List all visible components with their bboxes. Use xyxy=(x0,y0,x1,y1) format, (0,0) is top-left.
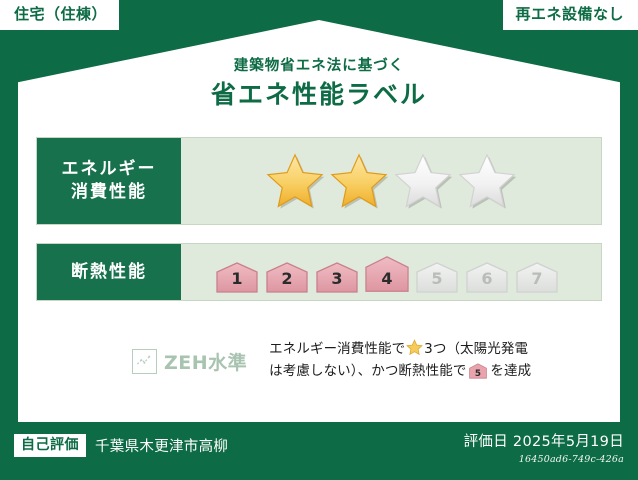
grade-house-inactive-icon xyxy=(516,262,558,293)
zeh-desc-star-count: 3つ（太陽光発電 xyxy=(424,341,528,357)
grade-step: 5 xyxy=(415,262,459,293)
grade-step: 7 xyxy=(515,262,559,293)
grade-step: 2 xyxy=(265,262,309,293)
grade-step: 6 xyxy=(465,262,509,293)
energy-label-line1: エネルギー xyxy=(62,158,157,181)
label-footer: 自己評価 千葉県木更津市高柳 評価日 2025年5月19日 16450ad6-7… xyxy=(0,422,638,480)
inline-star-icon xyxy=(406,339,423,356)
energy-consumption-label: エネルギー 消費性能 xyxy=(37,138,181,224)
zeh-desc-part1: エネルギー消費性能で xyxy=(269,341,405,357)
energy-performance-label: 住宅（住棟） 再エネ設備なし 建築物省エネ法に基づく 省エネ性能ラベル エネルギ… xyxy=(0,0,638,480)
self-evaluation-block: 自己評価 千葉県木更津市高柳 xyxy=(14,434,228,457)
zeh-standard-row: ZEH水準 エネルギー消費性能で 3つ（太陽光発電 は考慮しない）、かつ断熱性能… xyxy=(36,330,602,392)
title-subtitle: 建築物省エネ法に基づく xyxy=(0,58,638,75)
insulation-performance-value: 1234567 xyxy=(181,244,601,300)
star-filled-icon xyxy=(265,152,325,210)
grade-step: 4 xyxy=(365,255,409,293)
grade-house-active-icon xyxy=(365,255,409,293)
insulation-performance-label: 断熱性能 xyxy=(37,244,181,300)
star-filled-icon xyxy=(329,152,389,210)
building-type-tag: 住宅（住棟） xyxy=(0,0,119,30)
insulation-label-text: 断熱性能 xyxy=(71,261,147,284)
zeh-desc-part2: は考慮しない）、かつ断熱性能で xyxy=(269,363,466,379)
energy-consumption-row: エネルギー 消費性能 xyxy=(36,137,602,225)
zeh-badge: ZEH水準 xyxy=(36,348,247,375)
insulation-performance-row: 断熱性能 1234567 xyxy=(36,243,602,301)
self-evaluation-tag: 自己評価 xyxy=(14,434,86,457)
inline-grade-value: 5 xyxy=(475,369,481,379)
label-title: 建築物省エネ法に基づく 省エネ性能ラベル xyxy=(0,58,638,112)
evaluation-date: 評価日 2025年5月19日 xyxy=(464,430,624,451)
title-main: 省エネ性能ラベル xyxy=(0,78,638,112)
grade-scale: 1234567 xyxy=(181,244,559,300)
star-rating xyxy=(181,152,517,210)
star-empty-icon xyxy=(393,152,453,210)
zeh-mark-icon xyxy=(132,349,157,374)
evaluation-date-block: 評価日 2025年5月19日 16450ad6-749c-426a xyxy=(464,430,624,465)
energy-consumption-value xyxy=(181,138,601,224)
grade-house-active-icon xyxy=(216,262,258,293)
grade-step: 1 xyxy=(215,262,259,293)
property-address: 千葉県木更津市高柳 xyxy=(95,435,228,456)
grade-house-active-icon xyxy=(266,262,308,293)
renewable-energy-tag: 再エネ設備なし xyxy=(503,0,638,30)
zeh-desc-part3: を達成 xyxy=(490,363,531,379)
energy-label-line2: 消費性能 xyxy=(71,181,147,204)
document-id: 16450ad6-749c-426a xyxy=(464,454,624,465)
zeh-label: ZEH水準 xyxy=(164,348,247,375)
grade-house-inactive-icon xyxy=(466,262,508,293)
grade-house-active-icon xyxy=(316,262,358,293)
inline-grade-badge: 5 xyxy=(468,363,488,379)
star-empty-icon xyxy=(457,152,517,210)
grade-step: 3 xyxy=(315,262,359,293)
grade-house-inactive-icon xyxy=(416,262,458,293)
zeh-description: エネルギー消費性能で 3つ（太陽光発電 は考慮しない）、かつ断熱性能で 5 を達… xyxy=(269,339,531,383)
